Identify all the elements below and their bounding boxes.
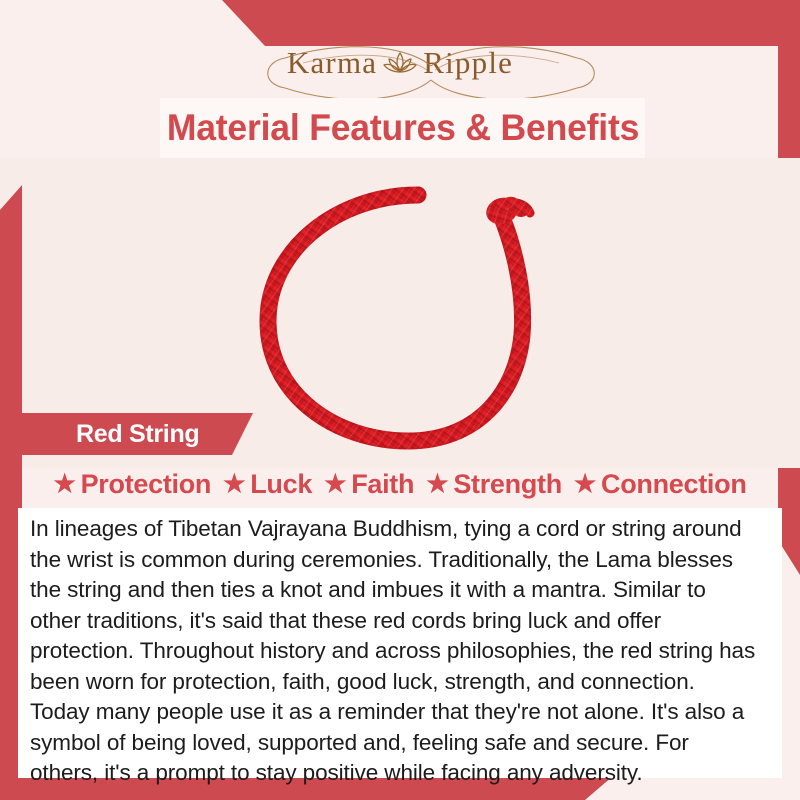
- benefits-row: ★ Protection ★ Luck ★ Faith ★ Strength ★…: [0, 462, 800, 506]
- material-ribbon-label: Red String: [76, 420, 199, 449]
- benefit-item: ★ Faith: [324, 469, 414, 500]
- description-panel: In lineages of Tibetan Vajrayana Buddhis…: [18, 508, 782, 778]
- benefit-item: ★ Strength: [426, 469, 562, 500]
- benefit-label: Luck: [250, 469, 312, 500]
- benefit-label: Strength: [453, 469, 562, 500]
- page-title: Material Features & Benefits: [166, 107, 638, 149]
- star-icon: ★: [426, 472, 448, 497]
- star-icon: ★: [574, 472, 596, 497]
- benefit-label: Connection: [601, 469, 747, 500]
- benefit-label: Faith: [351, 469, 414, 500]
- page-title-band: Material Features & Benefits: [160, 98, 645, 158]
- star-icon: ★: [53, 472, 75, 497]
- lotus-icon: [383, 50, 417, 76]
- benefit-item: ★ Protection: [53, 469, 211, 500]
- star-icon: ★: [324, 472, 346, 497]
- benefit-item: ★ Luck: [223, 469, 312, 500]
- benefit-item: ★ Connection: [574, 469, 747, 500]
- star-icon: ★: [223, 472, 245, 497]
- red-string-bracelet-image: [240, 163, 560, 463]
- logo-word-karma: Karma: [287, 45, 377, 81]
- logo-word-ripple: Ripple: [423, 45, 513, 81]
- material-ribbon: Red String: [18, 413, 253, 455]
- brand-logo: Karma Ripple: [0, 34, 800, 92]
- benefit-label: Protection: [81, 469, 212, 500]
- description-text: In lineages of Tibetan Vajrayana Buddhis…: [30, 514, 758, 789]
